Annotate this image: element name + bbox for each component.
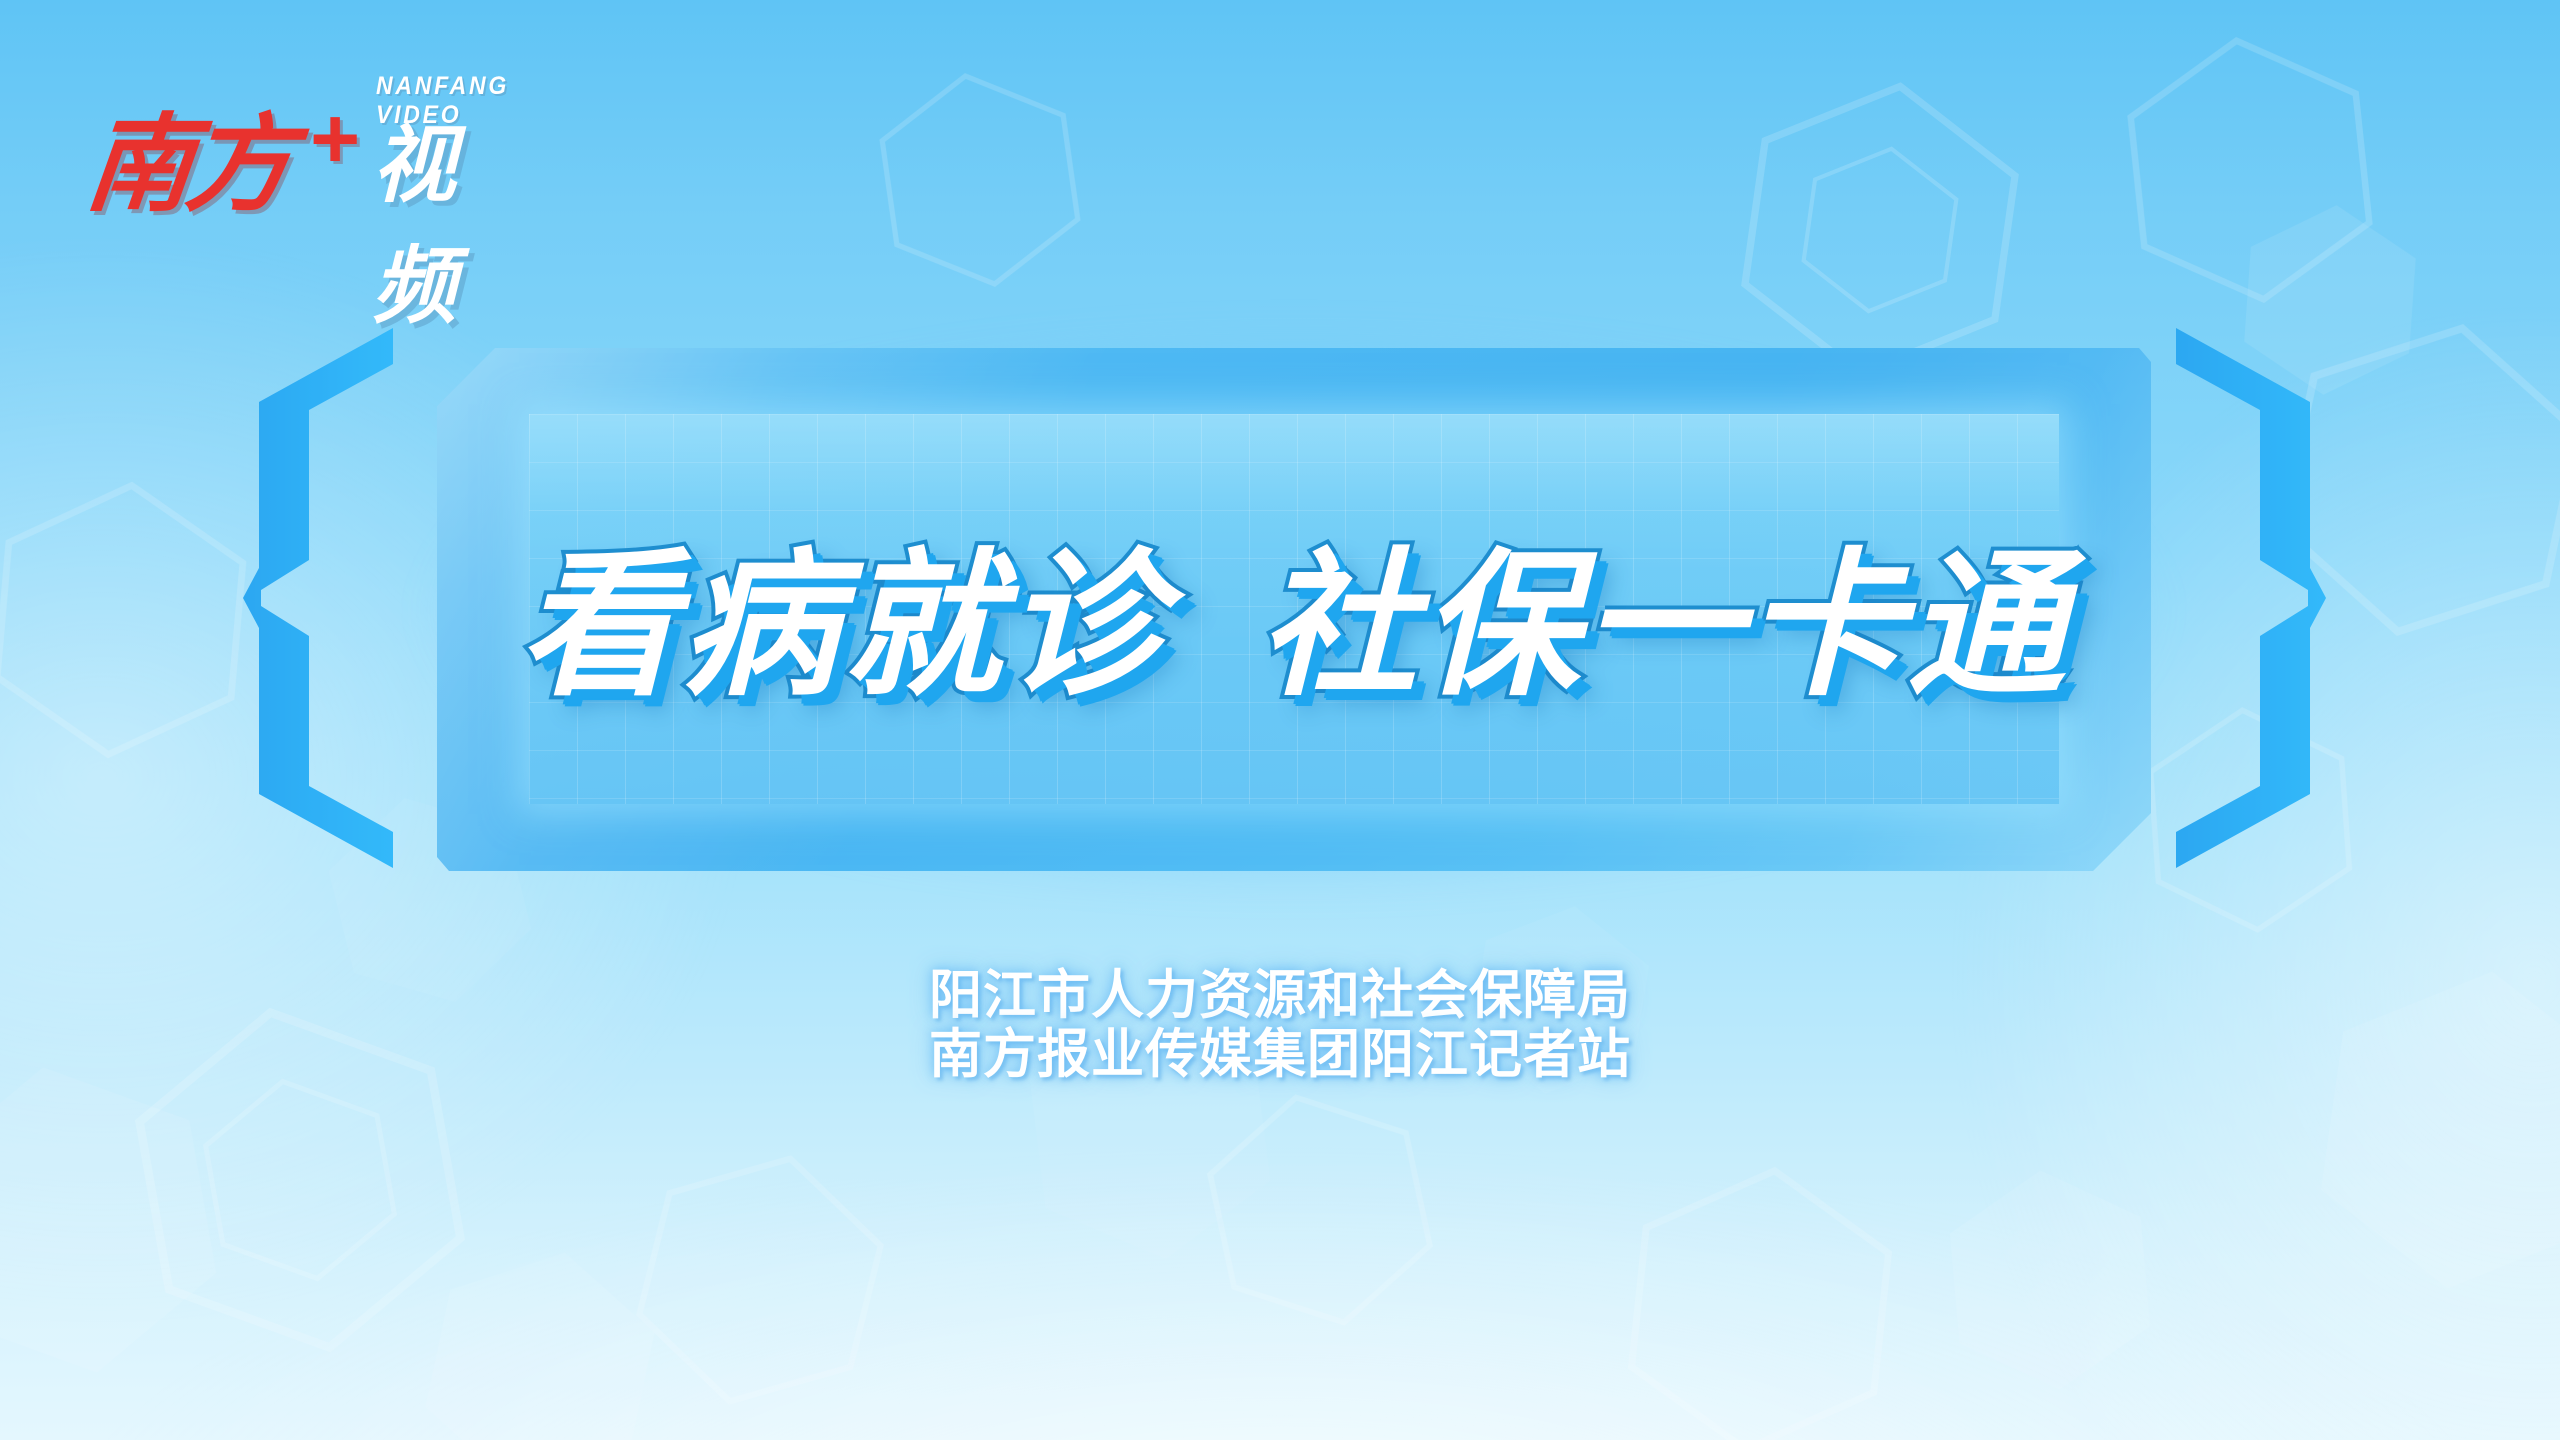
subtitle-line-1: 阳江市人力资源和社会保障局 (0, 966, 2560, 1025)
headline-part-2: 社保一卡通 (1259, 497, 2069, 726)
headline-part-1: 看病就诊 (519, 497, 1167, 726)
subtitle-block: 阳江市人力资源和社会保障局 南方报业传媒集团阳江记者站 (0, 966, 2560, 1084)
subtitle-line-2: 南方报业传媒集团阳江记者站 (0, 1025, 2560, 1084)
logo-plus-icon: + (310, 90, 360, 189)
right-bracket-icon (2176, 328, 2326, 868)
headline: 看病就诊 社保一卡通 (437, 486, 2151, 736)
logo-suffix-cn: 视频 (372, 98, 518, 340)
nanfang-plus-logo: 南方 + NANFANG VIDEO 视频 (88, 72, 518, 232)
video-title-card: 看病就诊 社保一卡通 南方 + NANFANG VIDEO 视频 阳江市人力资源… (0, 0, 2560, 1440)
logo-brand-cn: 南方 (80, 78, 296, 232)
left-bracket-icon (243, 328, 393, 868)
